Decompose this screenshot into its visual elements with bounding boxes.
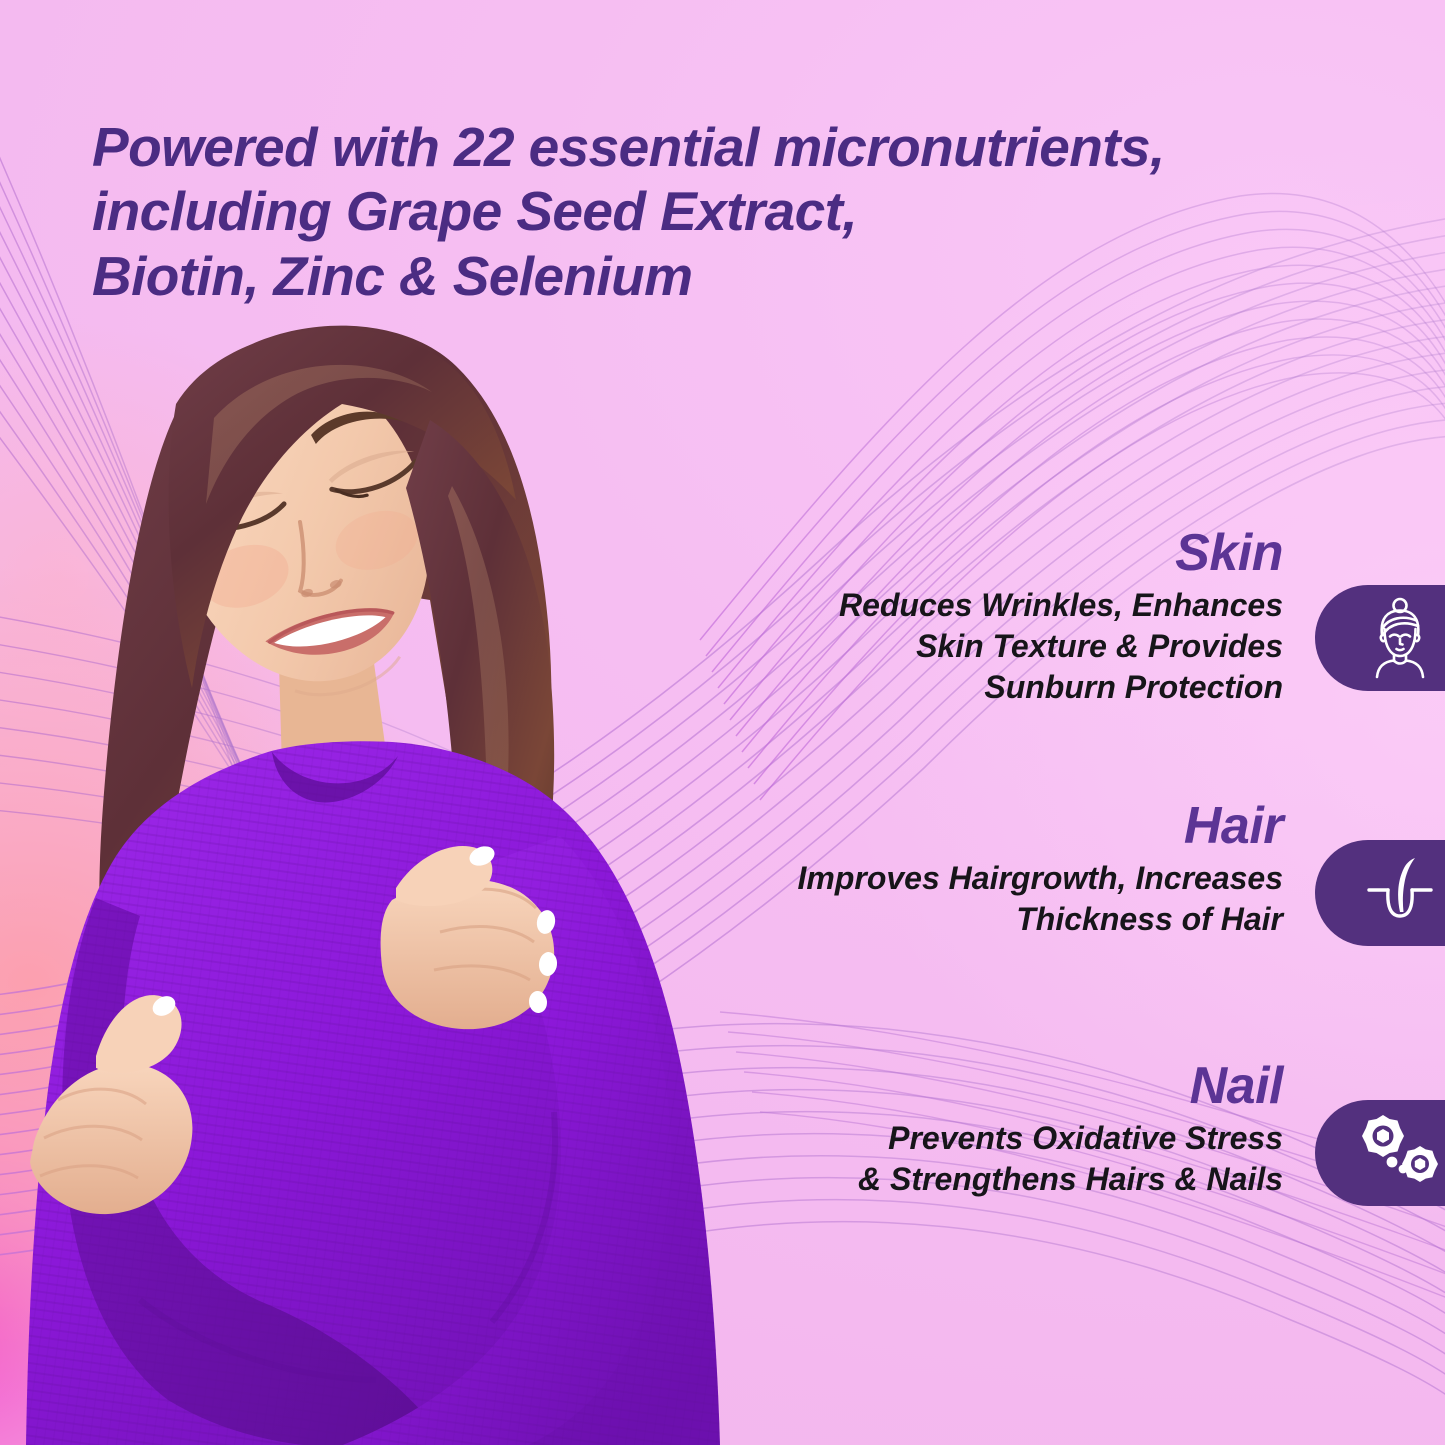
feature-nail-badge[interactable]	[1315, 1100, 1445, 1206]
feature-hair-badge[interactable]	[1315, 840, 1445, 946]
page-title: Powered with 22 essential micronutrients…	[92, 115, 1382, 308]
hair-follicle-icon	[1357, 850, 1443, 936]
feature-skin-badge[interactable]	[1315, 585, 1445, 691]
feature-nail-description: Prevents Oxidative Stress & Strengthens …	[858, 1118, 1283, 1200]
hand-left	[30, 992, 192, 1214]
feature-skin: Skin Reduces Wrinkles, Enhances Skin Tex…	[839, 527, 1283, 708]
molecule-antioxidant-icon	[1355, 1110, 1445, 1196]
feature-skin-description: Reduces Wrinkles, Enhances Skin Texture …	[839, 585, 1283, 708]
promo-poster: Powered with 22 essential micronutrients…	[0, 0, 1445, 1445]
feature-nail: Nail Prevents Oxidative Stress & Strengt…	[858, 1060, 1283, 1200]
feature-hair-title: Hair	[797, 800, 1283, 852]
feature-skin-title: Skin	[839, 527, 1283, 579]
feature-hair: Hair Improves Hairgrowth, Increases Thic…	[797, 800, 1283, 940]
face-skincare-icon	[1357, 595, 1443, 681]
feature-hair-description: Improves Hairgrowth, Increases Thickness…	[797, 858, 1283, 940]
feature-nail-title: Nail	[858, 1060, 1283, 1112]
model-photo	[0, 300, 780, 1445]
